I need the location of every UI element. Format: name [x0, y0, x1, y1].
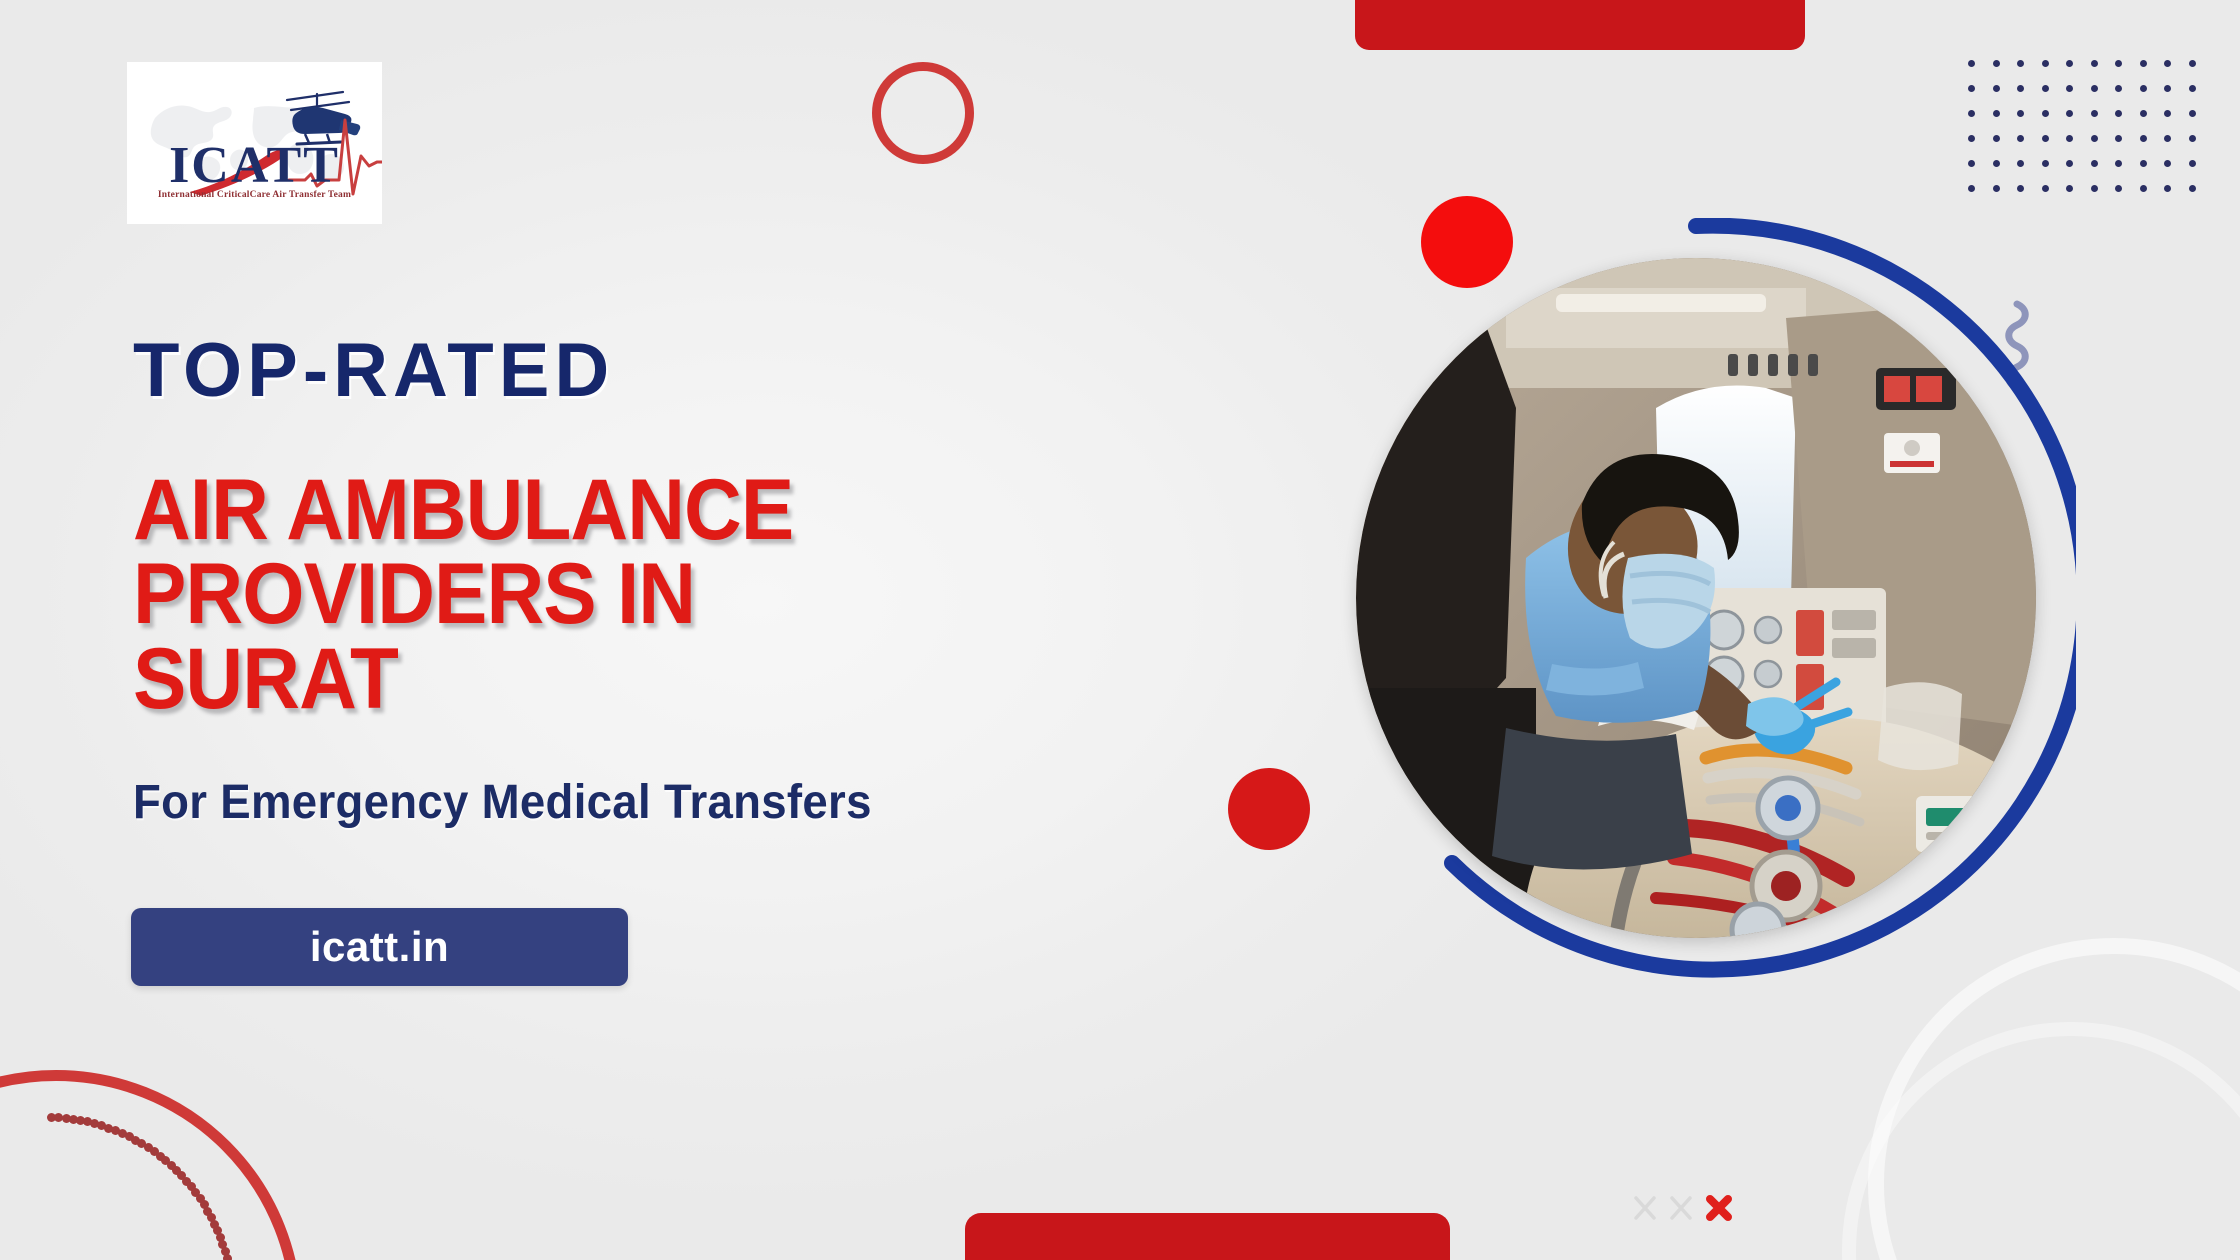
grid-dot — [2115, 85, 2122, 92]
grid-dot — [2140, 160, 2147, 167]
grid-dot — [2066, 110, 2073, 117]
air-ambulance-photo — [1356, 258, 2036, 938]
grid-dot — [1968, 160, 1975, 167]
hero-subheadline: For Emergency Medical Transfers — [133, 775, 872, 830]
website-cta-label: icatt.in — [310, 923, 449, 971]
grid-dot — [1993, 110, 2000, 117]
grid-dot — [2189, 85, 2196, 92]
grid-dot — [2066, 60, 2073, 67]
grid-dot — [2164, 135, 2171, 142]
grid-dot — [2140, 60, 2147, 67]
bottom-red-bar — [965, 1213, 1450, 1260]
grid-dot — [2164, 185, 2171, 192]
grid-dot — [2115, 135, 2122, 142]
grid-dot — [1993, 135, 2000, 142]
poster-canvas: ICATT International CriticalCare Air Tra… — [0, 0, 2240, 1260]
grid-dot — [2115, 185, 2122, 192]
website-cta-button[interactable]: icatt.in — [131, 908, 628, 986]
grid-dot — [1968, 110, 1975, 117]
navy-dot-grid — [1968, 60, 2208, 210]
grid-dot — [2017, 185, 2024, 192]
grid-dot — [2164, 85, 2171, 92]
red-circle-outline-icon — [872, 62, 974, 164]
grid-dot — [2164, 160, 2171, 167]
red-accent-dot-top — [1421, 196, 1513, 288]
grid-dot — [2115, 110, 2122, 117]
grid-dot — [2091, 85, 2098, 92]
top-red-bar — [1355, 0, 1805, 50]
grid-dot — [2066, 85, 2073, 92]
grid-dot — [2017, 60, 2024, 67]
hero-photo-group — [1316, 218, 2076, 978]
grid-dot — [2164, 110, 2171, 117]
brand-logo[interactable]: ICATT International CriticalCare Air Tra… — [127, 62, 382, 224]
grid-dot — [2042, 160, 2049, 167]
grid-dot — [2140, 110, 2147, 117]
grid-dot — [2189, 110, 2196, 117]
grid-dot — [1968, 85, 1975, 92]
grid-dot — [2066, 160, 2073, 167]
grid-dot — [2042, 110, 2049, 117]
grid-dot — [2115, 60, 2122, 67]
grid-dot — [1968, 135, 1975, 142]
grid-dot — [2091, 110, 2098, 117]
logo-tagline: International CriticalCare Air Transfer … — [127, 190, 382, 200]
x-mark-trio-icon — [1630, 1190, 1750, 1226]
grid-dot — [2140, 185, 2147, 192]
hero-headline: AIR AMBULANCE PROVIDERS IN SURAT — [133, 468, 951, 721]
arc-dot — [223, 1254, 232, 1260]
hero-headline-line-1: AIR AMBULANCE — [133, 468, 951, 552]
grid-dot — [2189, 135, 2196, 142]
hero-headline-line-3: SURAT — [133, 637, 951, 721]
grid-dot — [1993, 160, 2000, 167]
grid-dot — [2091, 160, 2098, 167]
grid-dot — [2042, 85, 2049, 92]
grid-dot — [2189, 160, 2196, 167]
grid-dot — [2189, 60, 2196, 67]
grid-dot — [2017, 110, 2024, 117]
grid-dot — [2115, 160, 2122, 167]
grid-dot — [2042, 60, 2049, 67]
grid-dot — [2066, 135, 2073, 142]
hero-kicker: TOP-RATED — [133, 333, 614, 409]
bottom-left-dot-arc — [0, 1110, 240, 1260]
grid-dot — [2042, 135, 2049, 142]
grid-dot — [1968, 60, 1975, 67]
grid-dot — [2140, 85, 2147, 92]
grid-dot — [1993, 60, 2000, 67]
grid-dot — [1993, 185, 2000, 192]
grid-dot — [2189, 185, 2196, 192]
grid-dot — [1993, 85, 2000, 92]
grid-dot — [2164, 60, 2171, 67]
grid-dot — [2017, 135, 2024, 142]
grid-dot — [2140, 135, 2147, 142]
hero-headline-line-2: PROVIDERS IN — [133, 552, 951, 636]
grid-dot — [2017, 85, 2024, 92]
grid-dot — [2091, 60, 2098, 67]
red-accent-dot-left — [1228, 768, 1310, 850]
grid-dot — [2066, 185, 2073, 192]
grid-dot — [2091, 135, 2098, 142]
grid-dot — [2091, 185, 2098, 192]
logo-wordmark: ICATT — [127, 140, 382, 192]
grid-dot — [2042, 185, 2049, 192]
grid-dot — [2017, 160, 2024, 167]
grid-dot — [1968, 185, 1975, 192]
